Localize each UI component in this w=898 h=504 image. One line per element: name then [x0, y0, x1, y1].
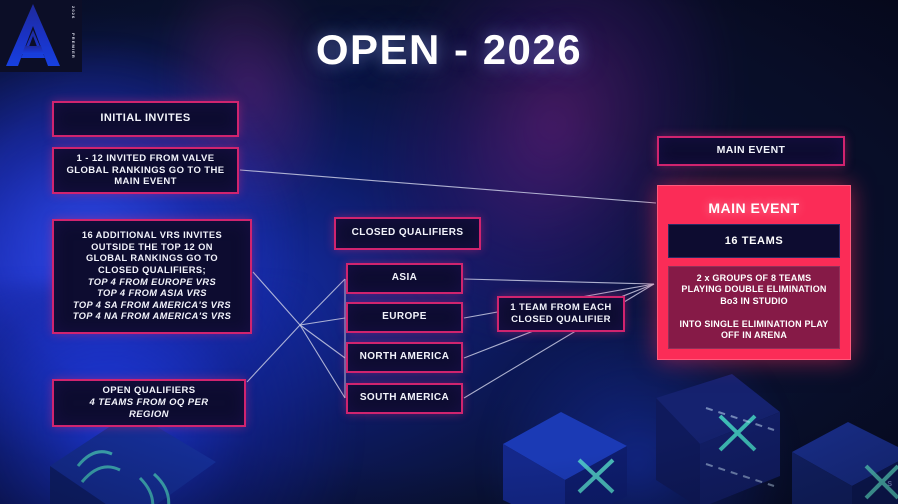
watermark: S — [887, 481, 892, 488]
main-event-header-label: MAIN EVENT — [717, 144, 786, 157]
open-qualifiers-title: OPEN QUALIFIERS — [90, 385, 209, 397]
box-open-qualifiers[interactable]: OPEN QUALIFIERS 4 TEAMS FROM OQ PER REGI… — [52, 379, 246, 427]
main-event-format-details: 2 x GROUPS OF 8 TEAMS PLAYING DOUBLE ELI… — [668, 266, 840, 349]
box-closed-qualifiers[interactable]: CLOSED QUALIFIERS — [334, 217, 481, 250]
region-label-south-america: SOUTH AMERICA — [360, 392, 449, 404]
vrs-italic-2: TOP 4 FROM ASIA VRS — [73, 288, 232, 300]
panel-main-event[interactable]: MAIN EVENT 16 TEAMS 2 x GROUPS OF 8 TEAM… — [657, 185, 851, 360]
vrs-line-4: CLOSED QUALIFIERS; — [73, 265, 232, 277]
one-team-line-1: 1 TEAM FROM EACH — [510, 302, 611, 314]
vrs-line-2: OUTSIDE THE TOP 12 ON — [73, 242, 232, 254]
box-initial-invites[interactable]: INITIAL INVITES — [52, 101, 239, 137]
page-title: OPEN - 2026 — [0, 26, 898, 74]
box-region-europe[interactable]: EUROPE — [346, 302, 463, 333]
box-one-team-from-each[interactable]: 1 TEAM FROM EACH CLOSED QUALIFIER — [497, 296, 625, 332]
vrs-italic-3: TOP 4 SA FROM AMERICA'S VRS — [73, 300, 232, 312]
main-event-format-line-1: 2 x GROUPS OF 8 TEAMS PLAYING DOUBLE ELI… — [676, 273, 832, 308]
main-event-panel-title: MAIN EVENT — [708, 200, 799, 216]
main-event-teams-count: 16 TEAMS — [668, 224, 840, 258]
region-label-asia: ASIA — [392, 272, 418, 284]
region-label-europe: EUROPE — [382, 311, 427, 323]
logo-side-year: 2026 — [71, 6, 75, 19]
open-qualifiers-line-2: REGION — [90, 409, 209, 421]
box-region-north-america[interactable]: NORTH AMERICA — [346, 342, 463, 373]
box-region-south-america[interactable]: SOUTH AMERICA — [346, 383, 463, 414]
vrs-line-3: GLOBAL RANKINGS GO TO — [73, 253, 232, 265]
box-main-event-header[interactable]: MAIN EVENT — [657, 136, 845, 166]
vrs-line-1: 16 ADDITIONAL VRS INVITES — [73, 230, 232, 242]
vrs-italic-4: TOP 4 NA FROM AMERICA'S VRS — [73, 311, 232, 323]
closed-qualifiers-label: CLOSED QUALIFIERS — [352, 227, 464, 239]
open-qualifiers-line-1: 4 TEAMS FROM OQ PER — [90, 397, 209, 409]
region-label-north-america: NORTH AMERICA — [360, 351, 450, 363]
vrs-italic-1: TOP 4 FROM EUROPE VRS — [73, 277, 232, 289]
initial-invites-label: INITIAL INVITES — [100, 112, 190, 126]
invited-line-2: GLOBAL RANKINGS GO TO THE — [67, 165, 225, 177]
box-invited-from-valve[interactable]: 1 - 12 INVITED FROM VALVE GLOBAL RANKING… — [52, 147, 239, 194]
one-team-line-2: CLOSED QUALIFIER — [510, 314, 611, 326]
main-event-format-line-2: INTO SINGLE ELIMINATION PLAY OFF IN AREN… — [676, 319, 832, 342]
invited-line-1: 1 - 12 INVITED FROM VALVE — [67, 153, 225, 165]
slide-canvas: 2026 PREMIER OPEN - 2026 INITIAL INVITES… — [0, 0, 898, 504]
box-region-asia[interactable]: ASIA — [346, 263, 463, 294]
invited-line-3: MAIN EVENT — [67, 176, 225, 188]
box-vrs-invites[interactable]: 16 ADDITIONAL VRS INVITES OUTSIDE THE TO… — [52, 219, 252, 334]
